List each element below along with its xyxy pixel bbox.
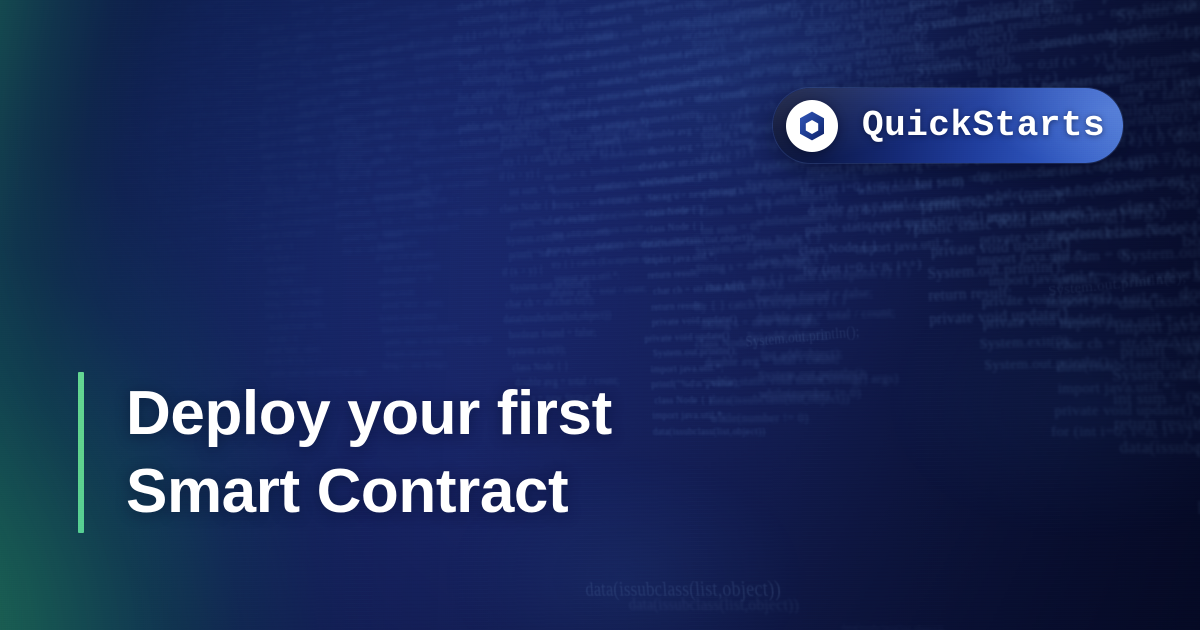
accent-bar — [78, 372, 84, 533]
headline-block: Deploy your first Smart Contract — [78, 372, 612, 533]
quickstarts-badge[interactable]: QuickStarts — [773, 88, 1123, 163]
headline-line-1: Deploy your first — [126, 375, 612, 453]
badge-label: QuickStarts — [862, 108, 1105, 144]
quickstarts-banner: data(issubclass(list,object)) try { } ca… — [0, 0, 1200, 630]
headline-line-2: Smart Contract — [126, 453, 612, 531]
chainlink-hexagon-icon — [786, 100, 838, 152]
headline-text: Deploy your first Smart Contract — [126, 372, 612, 533]
